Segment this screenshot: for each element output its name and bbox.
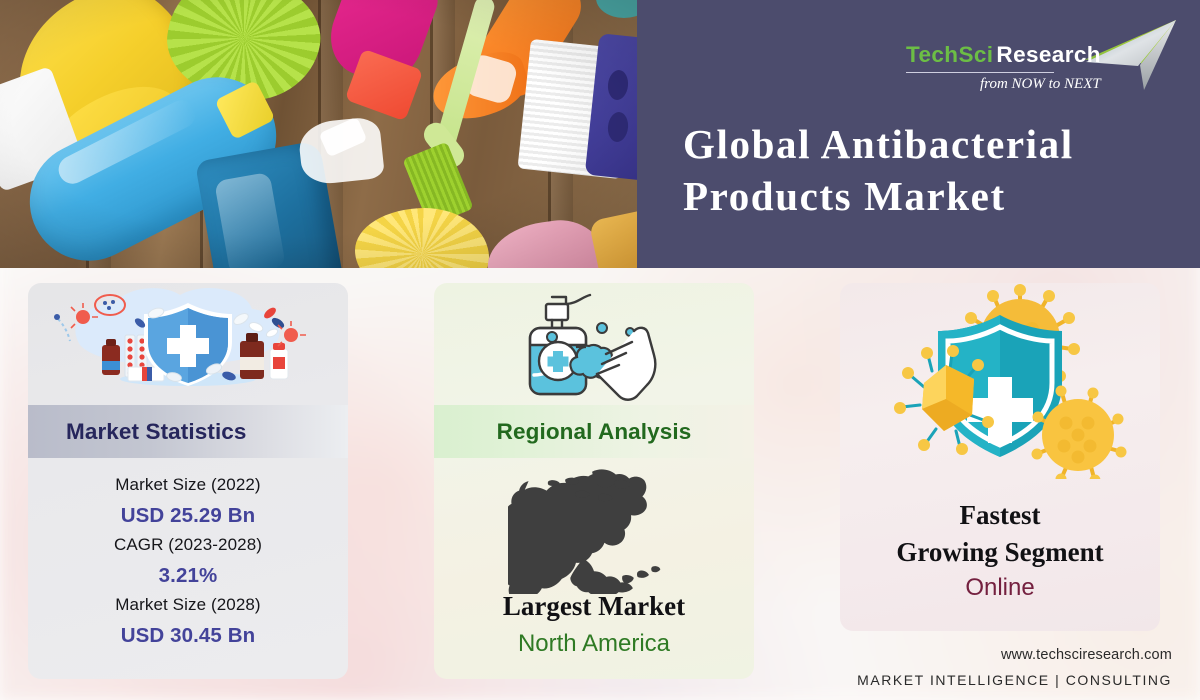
region-body: Largest Market North America bbox=[434, 458, 754, 679]
stat-label: Market Size (2028) bbox=[28, 592, 348, 619]
stats-band-title: Market Statistics bbox=[66, 419, 247, 445]
hero-photo bbox=[0, 0, 637, 268]
footer-website-url[interactable]: www.techsciresearch.com bbox=[857, 647, 1172, 663]
stat-value: USD 25.29 Bn bbox=[28, 499, 348, 532]
stat-value: USD 30.45 Bn bbox=[28, 619, 348, 652]
logo-research-text: Research bbox=[996, 42, 1101, 67]
footer: www.techsciresearch.com MARKET INTELLIGE… bbox=[857, 647, 1172, 688]
hero-title-panel: TechSciResearch from NOW to NEXT Global … bbox=[637, 0, 1200, 268]
segment-value: Online bbox=[840, 574, 1160, 602]
stat-value: 3.21% bbox=[28, 559, 348, 592]
photo-vignette bbox=[0, 0, 637, 268]
segment-icon-area bbox=[840, 283, 1160, 479]
market-statistics-card[interactable]: Market Statistics Market Size (2022) USD… bbox=[28, 283, 348, 679]
hero-section: TechSciResearch from NOW to NEXT Global … bbox=[0, 0, 1200, 268]
logo-techsci-text: TechSci bbox=[906, 42, 993, 67]
segment-caption-line1: Fastest bbox=[960, 500, 1041, 530]
stat-label: Market Size (2022) bbox=[28, 472, 348, 499]
stats-icon-area bbox=[28, 283, 348, 405]
shield-medicine-icon bbox=[28, 283, 348, 405]
logo-wordmark: TechSciResearch bbox=[906, 44, 1118, 73]
regional-analysis-card[interactable]: Regional Analysis Largest Market North A… bbox=[434, 283, 754, 679]
techsci-logo[interactable]: TechSciResearch from NOW to NEXT bbox=[906, 18, 1176, 104]
segment-caption-line2: Growing Segment bbox=[896, 537, 1103, 567]
segment-caption: Fastest Growing Segment bbox=[840, 497, 1160, 570]
stats-rows: Market Size (2022) USD 25.29 Bn CAGR (20… bbox=[28, 458, 348, 652]
region-value: North America bbox=[434, 630, 754, 658]
logo-underline bbox=[906, 72, 1054, 74]
fastest-growing-segment-card[interactable]: Fastest Growing Segment Online bbox=[840, 283, 1160, 631]
footer-tagline: MARKET INTELLIGENCE | CONSULTING bbox=[857, 672, 1172, 688]
shield-virus-icon bbox=[840, 283, 1160, 479]
logo-tagline: from NOW to NEXT bbox=[980, 76, 1101, 93]
region-caption: Largest Market bbox=[434, 591, 754, 622]
north-america-map-icon bbox=[508, 466, 680, 594]
stats-band: Market Statistics bbox=[28, 405, 348, 458]
region-band-title: Regional Analysis bbox=[497, 419, 692, 445]
page-title: Global Antibacterial Products Market bbox=[683, 118, 1183, 223]
region-band: Regional Analysis bbox=[434, 405, 754, 458]
region-icon-area bbox=[434, 283, 754, 405]
stat-label: CAGR (2023-2028) bbox=[28, 532, 348, 559]
hand-sanitizer-icon bbox=[434, 283, 754, 405]
